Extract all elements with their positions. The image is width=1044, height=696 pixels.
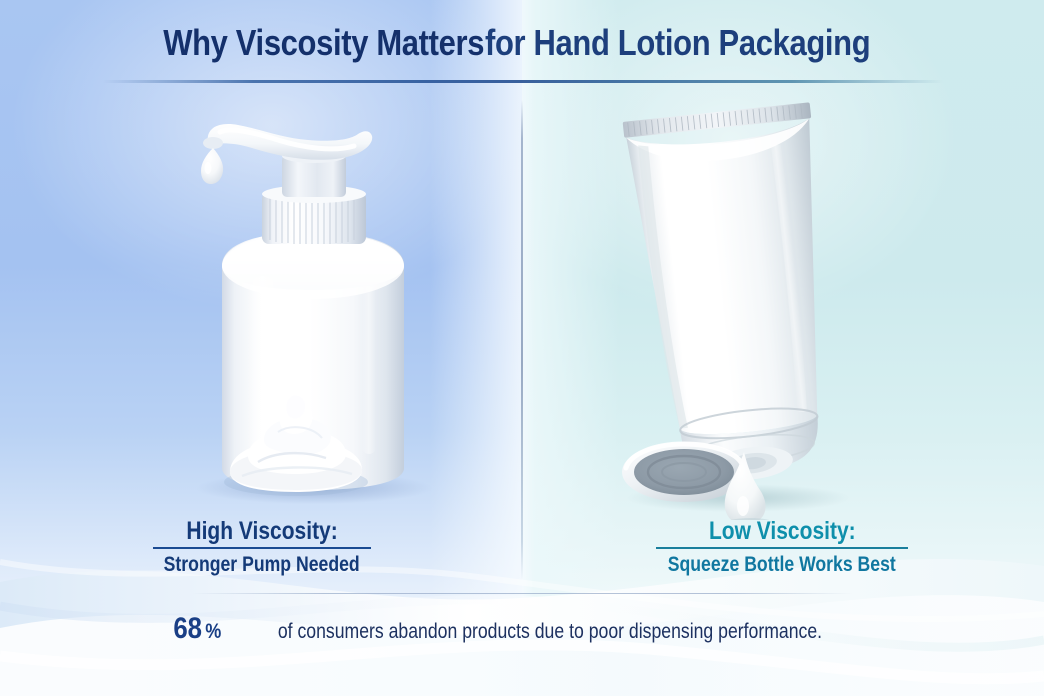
drop-highlight [737, 496, 749, 516]
title-strong: Why Viscosity Matters [164, 22, 485, 64]
lotion-droplet [201, 148, 223, 184]
right-caption: Low Viscosity: Squeeze Bottle Works Best [562, 518, 1002, 576]
stat-percent-sign: % [205, 620, 221, 644]
right-caption-heading: Low Viscosity: [709, 518, 856, 544]
squeeze-tube-illustration [612, 100, 862, 520]
stat-number: 68 [173, 612, 202, 646]
right-caption-sub-wrap: Squeeze Bottle Works Best [562, 553, 1002, 576]
bottle-gloss-secondary [362, 286, 376, 454]
left-caption-heading: High Viscosity: [186, 518, 337, 544]
pump-spout-tip [203, 137, 223, 149]
infographic-canvas: Why Viscosity Matters for Hand Lotion Pa… [0, 0, 1044, 696]
tube-group [623, 102, 849, 489]
title-divider-rule [103, 80, 943, 83]
droplet-highlight [205, 162, 212, 174]
footer-statistic: 68%of consumers abandon products due to … [0, 612, 1044, 646]
pump-bottle-illustration [186, 100, 436, 520]
panel-divider [521, 100, 523, 580]
right-caption-subheading: Squeeze Bottle Works Best [668, 553, 896, 576]
page-title: Why Viscosity Matters for Hand Lotion Pa… [0, 22, 1044, 64]
left-caption-subheading: Stronger Pump Needed [164, 553, 360, 576]
title-light: for Hand Lotion Packaging [485, 22, 870, 64]
left-caption-heading-wrap: High Viscosity: [42, 518, 482, 544]
right-caption-heading-wrap: Low Viscosity: [562, 518, 1002, 544]
left-caption-rule [153, 547, 371, 549]
right-caption-rule [656, 547, 908, 549]
stat-description: of consumers abandon products due to poo… [277, 620, 821, 644]
left-caption: High Viscosity: Stronger Pump Needed [42, 518, 482, 576]
footer-divider-rule [192, 593, 852, 594]
left-caption-sub-wrap: Stronger Pump Needed [42, 553, 482, 576]
